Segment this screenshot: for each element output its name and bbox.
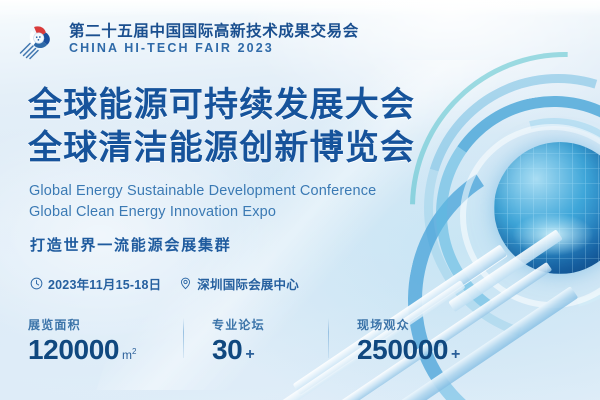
stat-unit-text: m [122, 348, 132, 362]
stat-unit-exponent: 2 [132, 347, 136, 356]
event-date: 2023年11月15-18日 [30, 274, 161, 293]
stat-item: 专业论坛 30 + [184, 316, 328, 364]
stat-item: 展览面积 120000 m2 [28, 316, 183, 364]
event-header: 第二十五届中国国际高新技术成果交易会 CHINA HI-TECH FAIR 20… [18, 18, 359, 60]
subtitle-line-2: Global Clean Energy Innovation Expo [29, 202, 376, 223]
main-title-line-2: 全球清洁能源创新博览会 [28, 127, 415, 170]
event-meta-row: 2023年11月15-18日 深圳国际会展中心 [30, 274, 299, 293]
stat-unit: m2 [122, 347, 136, 362]
header-text-block: 第二十五届中国国际高新技术成果交易会 CHINA HI-TECH FAIR 20… [69, 23, 359, 56]
tech-arc-rings [417, 77, 600, 350]
diagonal-light-bars [448, 229, 562, 312]
globe-halo [436, 100, 600, 332]
main-title-line-1: 全球能源可持续发展大会 [28, 84, 415, 127]
globe-graphic [494, 142, 600, 274]
event-date-text: 2023年11月15-18日 [48, 274, 161, 293]
stat-value-line: 120000 m2 [28, 336, 183, 364]
stat-label: 展览面积 [28, 316, 183, 333]
globe-grid [494, 142, 600, 274]
poster-banner: 第二十五届中国国际高新技术成果交易会 CHINA HI-TECH FAIR 20… [0, 0, 600, 400]
top-sheen [0, 0, 600, 16]
stat-plus: + [245, 346, 254, 364]
header-title-cn: 第二十五届中国国际高新技术成果交易会 [69, 23, 359, 40]
stat-item: 现场观众 250000 + [329, 316, 460, 364]
clock-icon [30, 277, 43, 290]
event-venue: 深圳国际会展中心 [179, 274, 299, 293]
stat-value-line: 250000 + [357, 336, 460, 364]
stat-plus: + [451, 346, 460, 364]
main-title: 全球能源可持续发展大会 全球清洁能源创新博览会 [28, 84, 415, 170]
header-title-en: CHINA HI-TECH FAIR 2023 [69, 42, 359, 56]
location-pin-icon [179, 277, 192, 290]
event-venue-text: 深圳国际会展中心 [197, 274, 299, 293]
tech-arc-rings [423, 83, 600, 345]
stat-label: 现场观众 [357, 316, 460, 333]
stat-value: 30 [212, 336, 242, 364]
subtitle-line-1: Global Energy Sustainable Development Co… [29, 181, 376, 202]
stat-label: 专业论坛 [212, 316, 328, 333]
chtf-pinwheel-logo [18, 18, 60, 60]
main-subtitle: Global Energy Sustainable Development Co… [29, 181, 376, 222]
event-stats: 展览面积 120000 m2 专业论坛 30 + 现场观众 250000 + [28, 316, 460, 364]
tagline: 打造世界一流能源会展集群 [30, 234, 232, 255]
globe-highlight [512, 213, 594, 255]
stat-value: 120000 [28, 336, 119, 364]
stat-value: 250000 [357, 336, 448, 364]
stat-value-line: 30 + [212, 336, 328, 364]
